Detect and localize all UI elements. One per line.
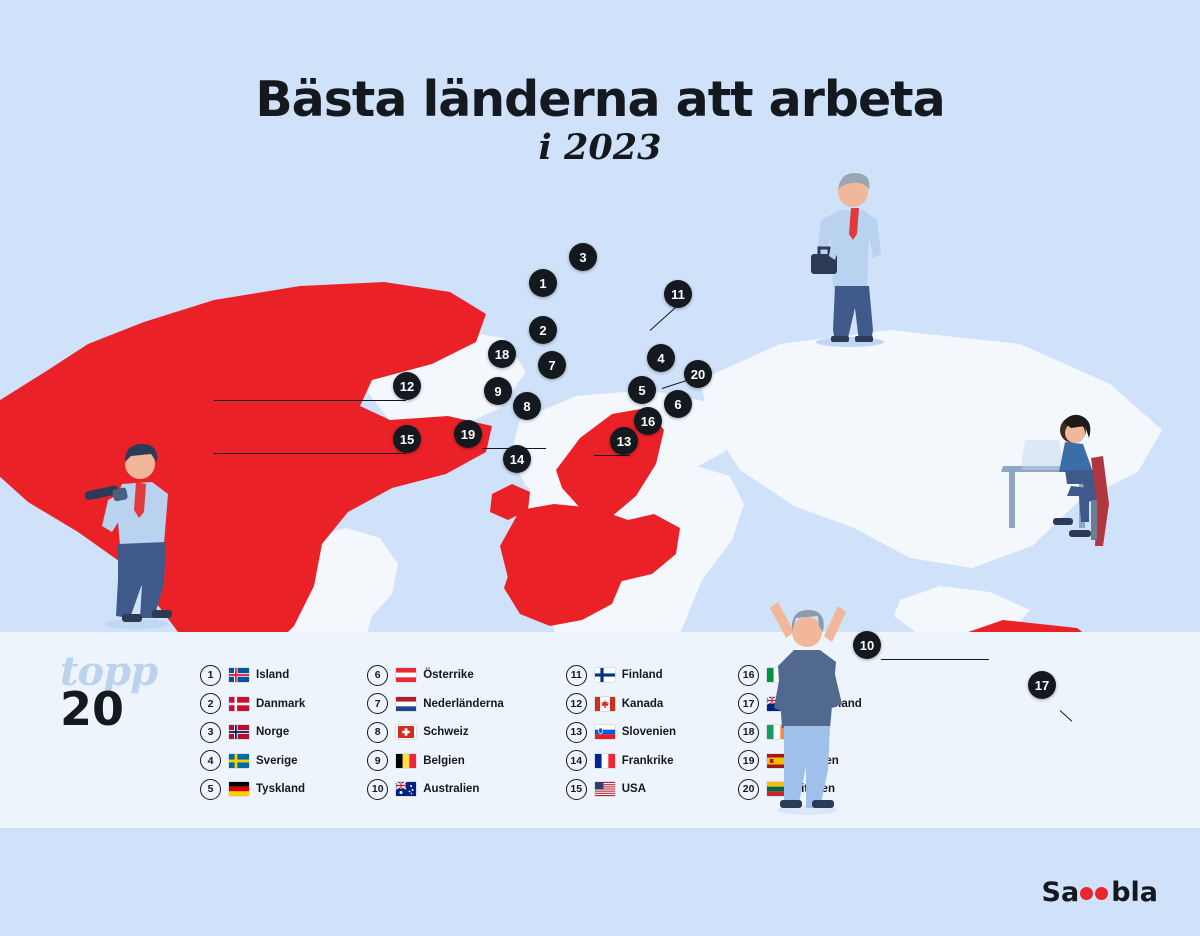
list-item[interactable]: 10Australien bbox=[367, 780, 504, 798]
map-marker-12[interactable]: 12 bbox=[393, 372, 421, 400]
title-main: Bästa länderna att arbeta bbox=[0, 74, 1200, 125]
flag-icon-netherlands bbox=[396, 697, 416, 711]
list-item[interactable]: 3Norge bbox=[200, 723, 305, 741]
flag-icon-germany bbox=[229, 782, 249, 796]
illustration-businessman bbox=[795, 150, 905, 350]
logo-dots-icon bbox=[1080, 885, 1110, 900]
flag-icon-switzerland bbox=[396, 725, 416, 739]
map-marker-13[interactable]: 13 bbox=[610, 427, 638, 455]
list-item[interactable]: 8Schweiz bbox=[367, 723, 504, 741]
map-marker-17[interactable]: 17 bbox=[1028, 671, 1056, 699]
legend-column-2: 6Österrike7Nederländerna8Schweiz9Belgien… bbox=[367, 666, 504, 798]
list-item[interactable]: 13Slovenien bbox=[566, 723, 676, 741]
country-name: Frankrike bbox=[622, 755, 674, 767]
rank-badge: 6 bbox=[367, 665, 388, 686]
list-item[interactable]: 14Frankrike bbox=[566, 752, 676, 770]
map-marker-5[interactable]: 5 bbox=[628, 376, 656, 404]
rank-badge: 1 bbox=[200, 665, 221, 686]
list-item[interactable]: 1Island bbox=[200, 666, 305, 684]
country-name: Nederländerna bbox=[423, 698, 504, 710]
list-item[interactable]: 4Sverige bbox=[200, 752, 305, 770]
rank-badge: 13 bbox=[566, 722, 587, 743]
country-name: Sverige bbox=[256, 755, 298, 767]
logo-text-left: Sa bbox=[1042, 877, 1080, 908]
map-marker-3[interactable]: 3 bbox=[569, 243, 597, 271]
topp-block: topp 20 bbox=[60, 652, 180, 732]
list-item[interactable]: 15USA bbox=[566, 780, 676, 798]
legend-column-1: 1Island2Danmark3Norge4Sverige5Tyskland bbox=[200, 666, 305, 798]
map-marker-7[interactable]: 7 bbox=[538, 351, 566, 379]
map-marker-1[interactable]: 1 bbox=[529, 269, 557, 297]
flag-icon-slovenia bbox=[595, 725, 615, 739]
map-marker-6[interactable]: 6 bbox=[664, 390, 692, 418]
list-item[interactable]: 9Belgien bbox=[367, 752, 504, 770]
country-name: Island bbox=[256, 669, 289, 681]
country-name: Slovenien bbox=[622, 726, 676, 738]
flag-icon-denmark bbox=[229, 697, 249, 711]
rank-badge: 4 bbox=[200, 750, 221, 771]
illustration-woman-cheering bbox=[752, 588, 862, 818]
rank-badge: 15 bbox=[566, 779, 587, 800]
map-marker-14[interactable]: 14 bbox=[503, 445, 531, 473]
flag-icon-australia bbox=[396, 782, 416, 796]
illustration-woman-laptop bbox=[995, 400, 1115, 560]
leader-line-13 bbox=[594, 455, 630, 456]
list-item[interactable]: 5Tyskland bbox=[200, 780, 305, 798]
infographic-root: Bästa länderna att arbeta i 2023 bbox=[0, 0, 1200, 936]
flag-icon-iceland bbox=[229, 668, 249, 682]
rank-badge: 11 bbox=[566, 665, 587, 686]
country-name: Danmark bbox=[256, 698, 305, 710]
map-marker-20[interactable]: 20 bbox=[684, 360, 712, 388]
map-marker-19[interactable]: 19 bbox=[454, 420, 482, 448]
flag-icon-norway bbox=[229, 725, 249, 739]
sambla-logo: Sa bla bbox=[1042, 877, 1158, 908]
flag-icon-france bbox=[595, 754, 615, 768]
rank-badge: 3 bbox=[200, 722, 221, 743]
list-item[interactable]: 7Nederländerna bbox=[367, 695, 504, 713]
country-name: Australien bbox=[423, 783, 479, 795]
list-item[interactable]: 11Finland bbox=[566, 666, 676, 684]
rank-badge: 14 bbox=[566, 750, 587, 771]
country-name: Finland bbox=[622, 669, 663, 681]
map-marker-18[interactable]: 18 bbox=[488, 340, 516, 368]
page-title: Bästa länderna att arbeta i 2023 bbox=[0, 74, 1200, 168]
leader-line-12 bbox=[214, 400, 406, 401]
topp-number: 20 bbox=[60, 686, 180, 732]
country-name: Tyskland bbox=[256, 783, 305, 795]
list-item[interactable]: 12Kanada bbox=[566, 695, 676, 713]
rank-badge: 2 bbox=[200, 693, 221, 714]
map-marker-2[interactable]: 2 bbox=[529, 316, 557, 344]
map-marker-10[interactable]: 10 bbox=[853, 631, 881, 659]
list-item[interactable]: 2Danmark bbox=[200, 695, 305, 713]
country-name: Belgien bbox=[423, 755, 465, 767]
legend-column-3: 11Finland12Kanada13Slovenien14Frankrike1… bbox=[566, 666, 676, 798]
country-name: Kanada bbox=[622, 698, 664, 710]
title-sub: i 2023 bbox=[0, 127, 1200, 168]
leader-line-15 bbox=[214, 453, 406, 454]
map-marker-9[interactable]: 9 bbox=[484, 377, 512, 405]
flag-icon-usa bbox=[595, 782, 615, 796]
country-name: USA bbox=[622, 783, 646, 795]
logo-text-right: bla bbox=[1111, 877, 1158, 908]
map-marker-11[interactable]: 11 bbox=[664, 280, 692, 308]
map-marker-4[interactable]: 4 bbox=[647, 344, 675, 372]
leader-line-10 bbox=[881, 659, 989, 660]
legend-panel: topp 20 1Island2Danmark3Norge4Sverige5Ty… bbox=[0, 632, 1200, 828]
map-marker-15[interactable]: 15 bbox=[393, 425, 421, 453]
flag-icon-finland bbox=[595, 668, 615, 682]
rank-badge: 7 bbox=[367, 693, 388, 714]
flag-icon-belgium bbox=[396, 754, 416, 768]
map-marker-8[interactable]: 8 bbox=[513, 392, 541, 420]
rank-badge: 12 bbox=[566, 693, 587, 714]
illustration-man-telescope bbox=[78, 430, 198, 630]
country-name: Österrike bbox=[423, 669, 474, 681]
flag-icon-canada bbox=[595, 697, 615, 711]
map-marker-16[interactable]: 16 bbox=[634, 407, 662, 435]
flag-icon-austria bbox=[396, 668, 416, 682]
rank-badge: 5 bbox=[200, 779, 221, 800]
flag-icon-sweden bbox=[229, 754, 249, 768]
rank-badge: 8 bbox=[367, 722, 388, 743]
country-name: Schweiz bbox=[423, 726, 468, 738]
rank-badge: 10 bbox=[367, 779, 388, 800]
list-item[interactable]: 6Österrike bbox=[367, 666, 504, 684]
country-name: Norge bbox=[256, 726, 289, 738]
rank-badge: 9 bbox=[367, 750, 388, 771]
